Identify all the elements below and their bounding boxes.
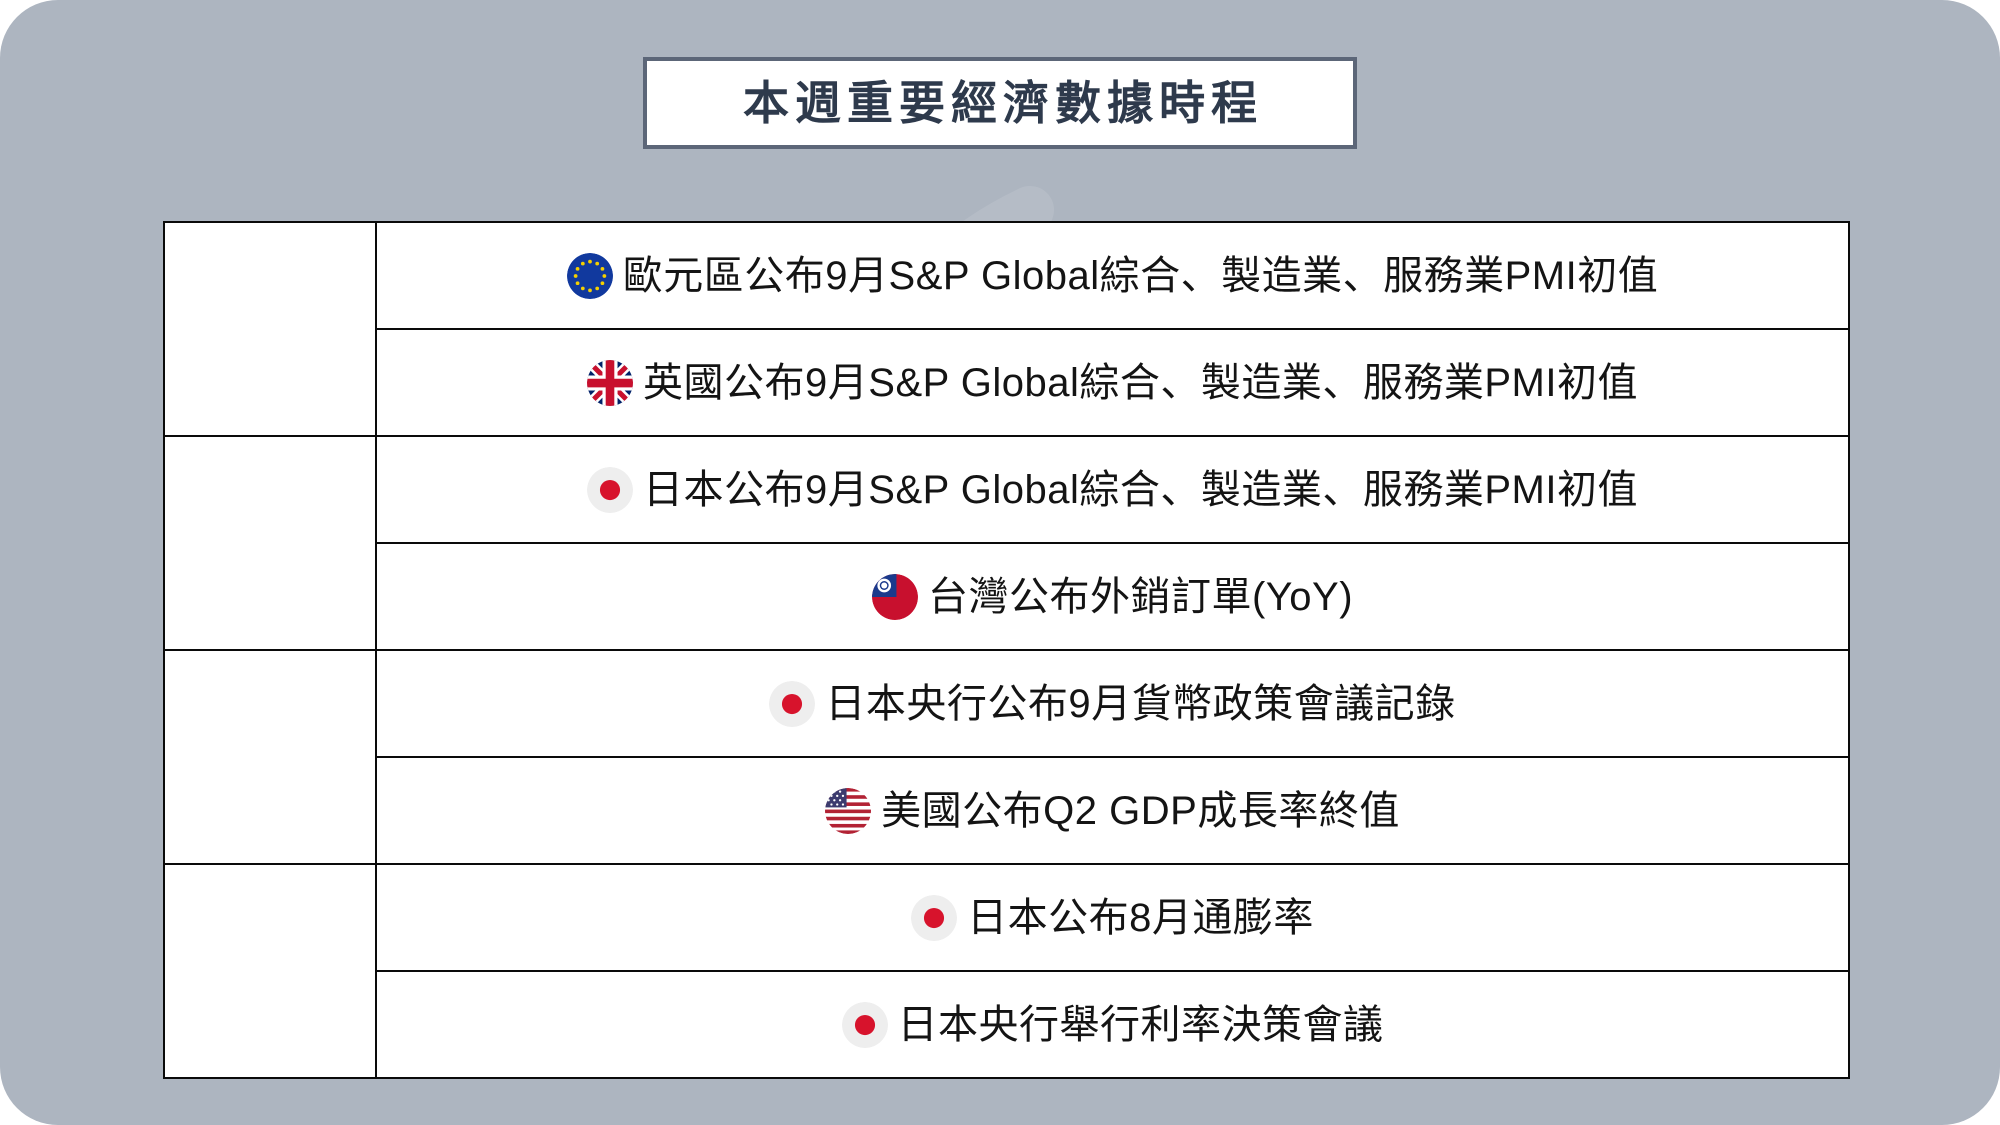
table-row: 日本央行舉行利率決策會議	[164, 971, 1849, 1078]
japan-flag-icon	[587, 467, 633, 513]
taiwan-flag-icon	[872, 574, 918, 620]
event-cell: 美國公布Q2 GDP成長率終值	[376, 757, 1849, 864]
event-cell: 英國公布9月S&P Global綜合、製造業、服務業PMI初值	[376, 329, 1849, 436]
japan-flag-icon	[769, 681, 815, 727]
event-content: 英國公布9月S&P Global綜合、製造業、服務業PMI初值	[377, 360, 1848, 406]
event-content: 日本公布8月通膨率	[377, 895, 1848, 941]
event-content: 日本公布9月S&P Global綜合、製造業、服務業PMI初值	[377, 467, 1848, 513]
japan-flag-icon	[911, 895, 957, 941]
date-cell: 9/26	[164, 864, 376, 1078]
table-row: 美國公布Q2 GDP成長率終值	[164, 757, 1849, 864]
date-cell: 9/24	[164, 436, 376, 650]
event-label: 日本公布8月通膨率	[967, 896, 1314, 940]
event-cell: 台灣公布外銷訂單(YoY)	[376, 543, 1849, 650]
date-cell: 9/23	[164, 222, 376, 436]
table-row: 9/23歐元區公布9月S&P Global綜合、製造業、服務業PMI初值	[164, 222, 1849, 329]
event-content: 美國公布Q2 GDP成長率終值	[377, 788, 1848, 834]
event-cell: 日本公布8月通膨率	[376, 864, 1849, 971]
table-row: 9/25日本央行公布9月貨幣政策會議記錄	[164, 650, 1849, 757]
event-label: 歐元區公布9月S&P Global綜合、製造業、服務業PMI初值	[623, 254, 1658, 298]
japan-flag-icon	[842, 1002, 888, 1048]
event-cell: 日本央行舉行利率決策會議	[376, 971, 1849, 1078]
table-row: 9/26日本公布8月通膨率	[164, 864, 1849, 971]
event-cell: 日本央行公布9月貨幣政策會議記錄	[376, 650, 1849, 757]
title-plaque: 本週重要經濟數據時程	[643, 57, 1357, 149]
page-title: 本週重要經濟數據時程	[737, 80, 1263, 126]
event-cell: 歐元區公布9月S&P Global綜合、製造業、服務業PMI初值	[376, 222, 1849, 329]
event-label: 台灣公布外銷訂單(YoY)	[928, 575, 1353, 619]
infographic-canvas: 本週重要經濟數據時程 9/23歐元區公布9月S&P Global綜合、製造業、服…	[0, 0, 2000, 1125]
economic-calendar-table: 9/23歐元區公布9月S&P Global綜合、製造業、服務業PMI初值英國公布…	[163, 221, 1850, 1079]
event-label: 英國公布9月S&P Global綜合、製造業、服務業PMI初值	[643, 361, 1638, 405]
event-label: 日本央行舉行利率決策會議	[898, 1003, 1384, 1047]
event-content: 日本央行公布9月貨幣政策會議記錄	[377, 681, 1848, 727]
table-row: 英國公布9月S&P Global綜合、製造業、服務業PMI初值	[164, 329, 1849, 436]
table-row: 台灣公布外銷訂單(YoY)	[164, 543, 1849, 650]
event-content: 台灣公布外銷訂單(YoY)	[377, 574, 1848, 620]
event-label: 日本央行公布9月貨幣政策會議記錄	[825, 682, 1455, 726]
event-cell: 日本公布9月S&P Global綜合、製造業、服務業PMI初值	[376, 436, 1849, 543]
date-cell: 9/25	[164, 650, 376, 864]
event-label: 日本公布9月S&P Global綜合、製造業、服務業PMI初值	[643, 468, 1638, 512]
eu-flag-icon	[567, 253, 613, 299]
table-body: 9/23歐元區公布9月S&P Global綜合、製造業、服務業PMI初值英國公布…	[164, 222, 1849, 1078]
usa-flag-icon	[825, 788, 871, 834]
event-content: 日本央行舉行利率決策會議	[377, 1002, 1848, 1048]
event-label: 美國公布Q2 GDP成長率終值	[881, 789, 1400, 833]
table-row: 9/24日本公布9月S&P Global綜合、製造業、服務業PMI初值	[164, 436, 1849, 543]
uk-flag-icon	[587, 360, 633, 406]
event-content: 歐元區公布9月S&P Global綜合、製造業、服務業PMI初值	[377, 253, 1848, 299]
